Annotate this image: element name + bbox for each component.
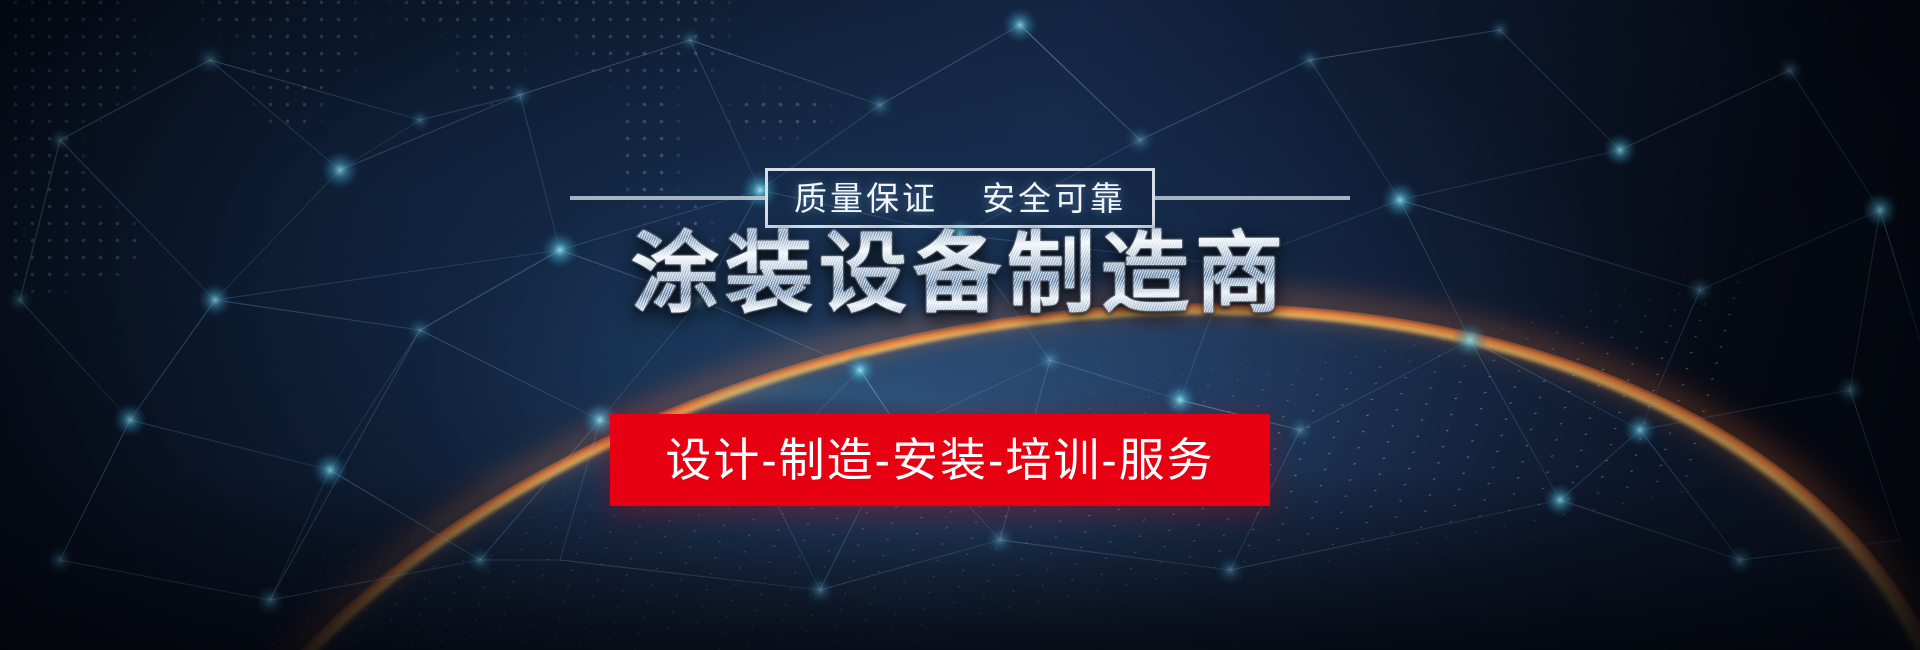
hero-banner: 质量保证 安全可靠 涂装设备制造商 涂装设备制造商 涂装设备制造商 设计-制造-… xyxy=(0,0,1920,650)
tagline-bar: 设计-制造-安装-培训-服务 xyxy=(610,414,1270,506)
subtitle-box: 质量保证 安全可靠 xyxy=(765,168,1155,228)
main-title: 涂装设备制造商 xyxy=(0,222,1920,326)
subtitle-rule-left xyxy=(570,196,765,200)
subtitle-strip: 质量保证 安全可靠 xyxy=(0,168,1920,228)
tagline-text: 设计-制造-安装-培训-服务 xyxy=(665,437,1214,483)
subtitle-item-safety: 安全可靠 xyxy=(982,182,1126,215)
subtitle-rule-right xyxy=(1155,196,1350,200)
subtitle-item-quality: 质量保证 xyxy=(794,182,938,215)
banner-content: 质量保证 安全可靠 涂装设备制造商 涂装设备制造商 涂装设备制造商 设计-制造-… xyxy=(0,0,1920,650)
